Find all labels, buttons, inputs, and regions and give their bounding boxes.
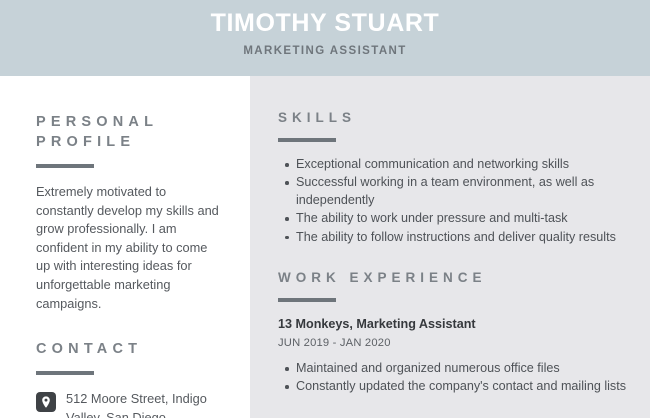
- skills-section: SKILLS Exceptional communication and net…: [278, 108, 634, 246]
- list-item: Constantly updated the company's contact…: [296, 378, 634, 395]
- resume-document: TIMOTHY STUART MARKETING ASSISTANT PERSO…: [0, 0, 650, 418]
- work-experience-divider: [278, 298, 336, 302]
- list-item: The ability to work under pressure and m…: [296, 210, 634, 227]
- experience-dates: JUN 2019 - JAN 2020: [278, 336, 634, 351]
- experience-bullet-list: Maintained and organized numerous office…: [278, 360, 634, 396]
- personal-profile-text: Extremely motivated to constantly develo…: [36, 183, 220, 313]
- contact-address-text: 512 Moore Street, Indigo Valley, San Die…: [66, 390, 220, 418]
- resume-body: PERSONAL PROFILE Extremely motivated to …: [0, 76, 650, 418]
- list-item: The ability to follow instructions and d…: [296, 229, 634, 246]
- main-column: SKILLS Exceptional communication and net…: [250, 76, 650, 418]
- experience-company: 13 Monkeys: [278, 317, 349, 331]
- contact-address-row: 512 Moore Street, Indigo Valley, San Die…: [36, 390, 220, 418]
- personal-profile-heading: PERSONAL PROFILE: [36, 112, 220, 152]
- experience-entry: 13 Monkeys, Marketing Assistant JUN 2019…: [278, 316, 634, 396]
- personal-profile-section: PERSONAL PROFILE Extremely motivated to …: [36, 112, 220, 313]
- personal-profile-divider: [36, 164, 94, 168]
- work-experience-section: WORK EXPERIENCE 13 Monkeys, Marketing As…: [278, 268, 634, 396]
- contact-heading: CONTACT: [36, 339, 220, 359]
- candidate-name: TIMOTHY STUART: [0, 0, 650, 38]
- candidate-job-title: MARKETING ASSISTANT: [0, 38, 650, 58]
- skills-heading: SKILLS: [278, 108, 634, 128]
- list-item: Exceptional communication and networking…: [296, 156, 634, 173]
- contact-divider: [36, 371, 94, 375]
- skills-list: Exceptional communication and networking…: [278, 156, 634, 246]
- experience-role: , Marketing Assistant: [349, 317, 475, 331]
- work-experience-heading: WORK EXPERIENCE: [278, 268, 634, 288]
- list-item: Maintained and organized numerous office…: [296, 360, 634, 377]
- map-pin-icon: [36, 392, 56, 412]
- experience-title: 13 Monkeys, Marketing Assistant: [278, 316, 634, 333]
- skills-divider: [278, 138, 336, 142]
- resume-header: TIMOTHY STUART MARKETING ASSISTANT: [0, 0, 650, 76]
- list-item: Successful working in a team environment…: [296, 174, 634, 209]
- sidebar-column: PERSONAL PROFILE Extremely motivated to …: [0, 76, 250, 418]
- contact-section: CONTACT 512 Moore Street, Indigo Valley,…: [36, 339, 220, 418]
